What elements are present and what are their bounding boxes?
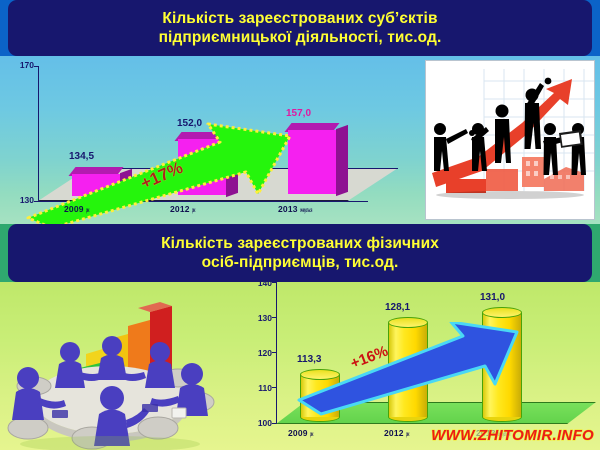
section2-panel: 140 130 120 110 100 113,3 128,1	[0, 282, 600, 450]
section1-title-line2: підприємницької діяльності, тис.од.	[159, 28, 442, 47]
xtick-2012-subjects: 2012 рік	[170, 204, 199, 214]
section2-title-line2: осіб-підприємців, тис.од.	[202, 253, 399, 272]
section2-title-band: Кількість зареєстрованих фізичних осіб-п…	[0, 224, 600, 282]
xtick-2009-subjects: 2009 рік	[64, 204, 93, 214]
chart2-tick-130	[272, 317, 276, 318]
section1-title-box: Кількість зареєстрованих суб’єктів підпр…	[8, 0, 592, 56]
bar-label-2013-individuals: 131,0	[480, 292, 505, 303]
xtick-2012-individuals: 2012 рік	[384, 428, 413, 438]
section2-title-line1: Кількість зареєстрованих фізичних	[161, 234, 439, 253]
business-growth-photo	[425, 60, 595, 220]
section2-title-box: Кількість зареєстрованих фізичних осіб-п…	[8, 224, 592, 282]
meeting-table-illustration	[0, 282, 245, 450]
chart2-ytick-130: 130	[244, 313, 272, 323]
cylinder-2013-individuals-top	[482, 307, 522, 318]
chart-subjects-of-entrepreneurship: 170 130 134,5 152,0	[0, 56, 420, 224]
section1-title-band: Кількість зареєстрованих суб’єктів підпр…	[0, 0, 600, 56]
chart2-tick-120	[272, 352, 276, 353]
chart1-tick-top	[34, 66, 38, 67]
growth-arrow-blue	[295, 322, 535, 417]
bar-2013-subjects-side	[336, 125, 348, 196]
chart2-tick-110	[272, 387, 276, 388]
site-watermark: WWW.ZHITOMIR.INFO	[431, 427, 594, 444]
chart2-ytick-120: 120	[244, 348, 272, 358]
section1-title-line1: Кількість зареєстрованих суб’єктів	[162, 9, 437, 28]
chart-individual-entrepreneurs: 140 130 120 110 100 113,3 128,1	[240, 282, 600, 450]
chart1-ytick-170: 170	[6, 60, 34, 70]
bar-label-2012-individuals: 128,1	[385, 302, 410, 313]
chart2-y-axis	[276, 282, 277, 424]
section1-panel: 170 130 134,5 152,0	[0, 56, 600, 224]
chart2-tick-140	[272, 282, 276, 283]
chart2-ytick-140: 140	[244, 282, 272, 288]
chart2-tick-100	[272, 423, 276, 424]
infographic-slide: Кількість зареєстрованих суб’єктів підпр…	[0, 0, 600, 450]
xtick-2009-individuals: 2009 рік	[288, 428, 317, 438]
chart2-ytick-100: 100	[244, 418, 272, 428]
xtick-2013-subjects: 2013 очікується	[278, 204, 327, 214]
chart2-ytick-110: 110	[244, 383, 272, 393]
